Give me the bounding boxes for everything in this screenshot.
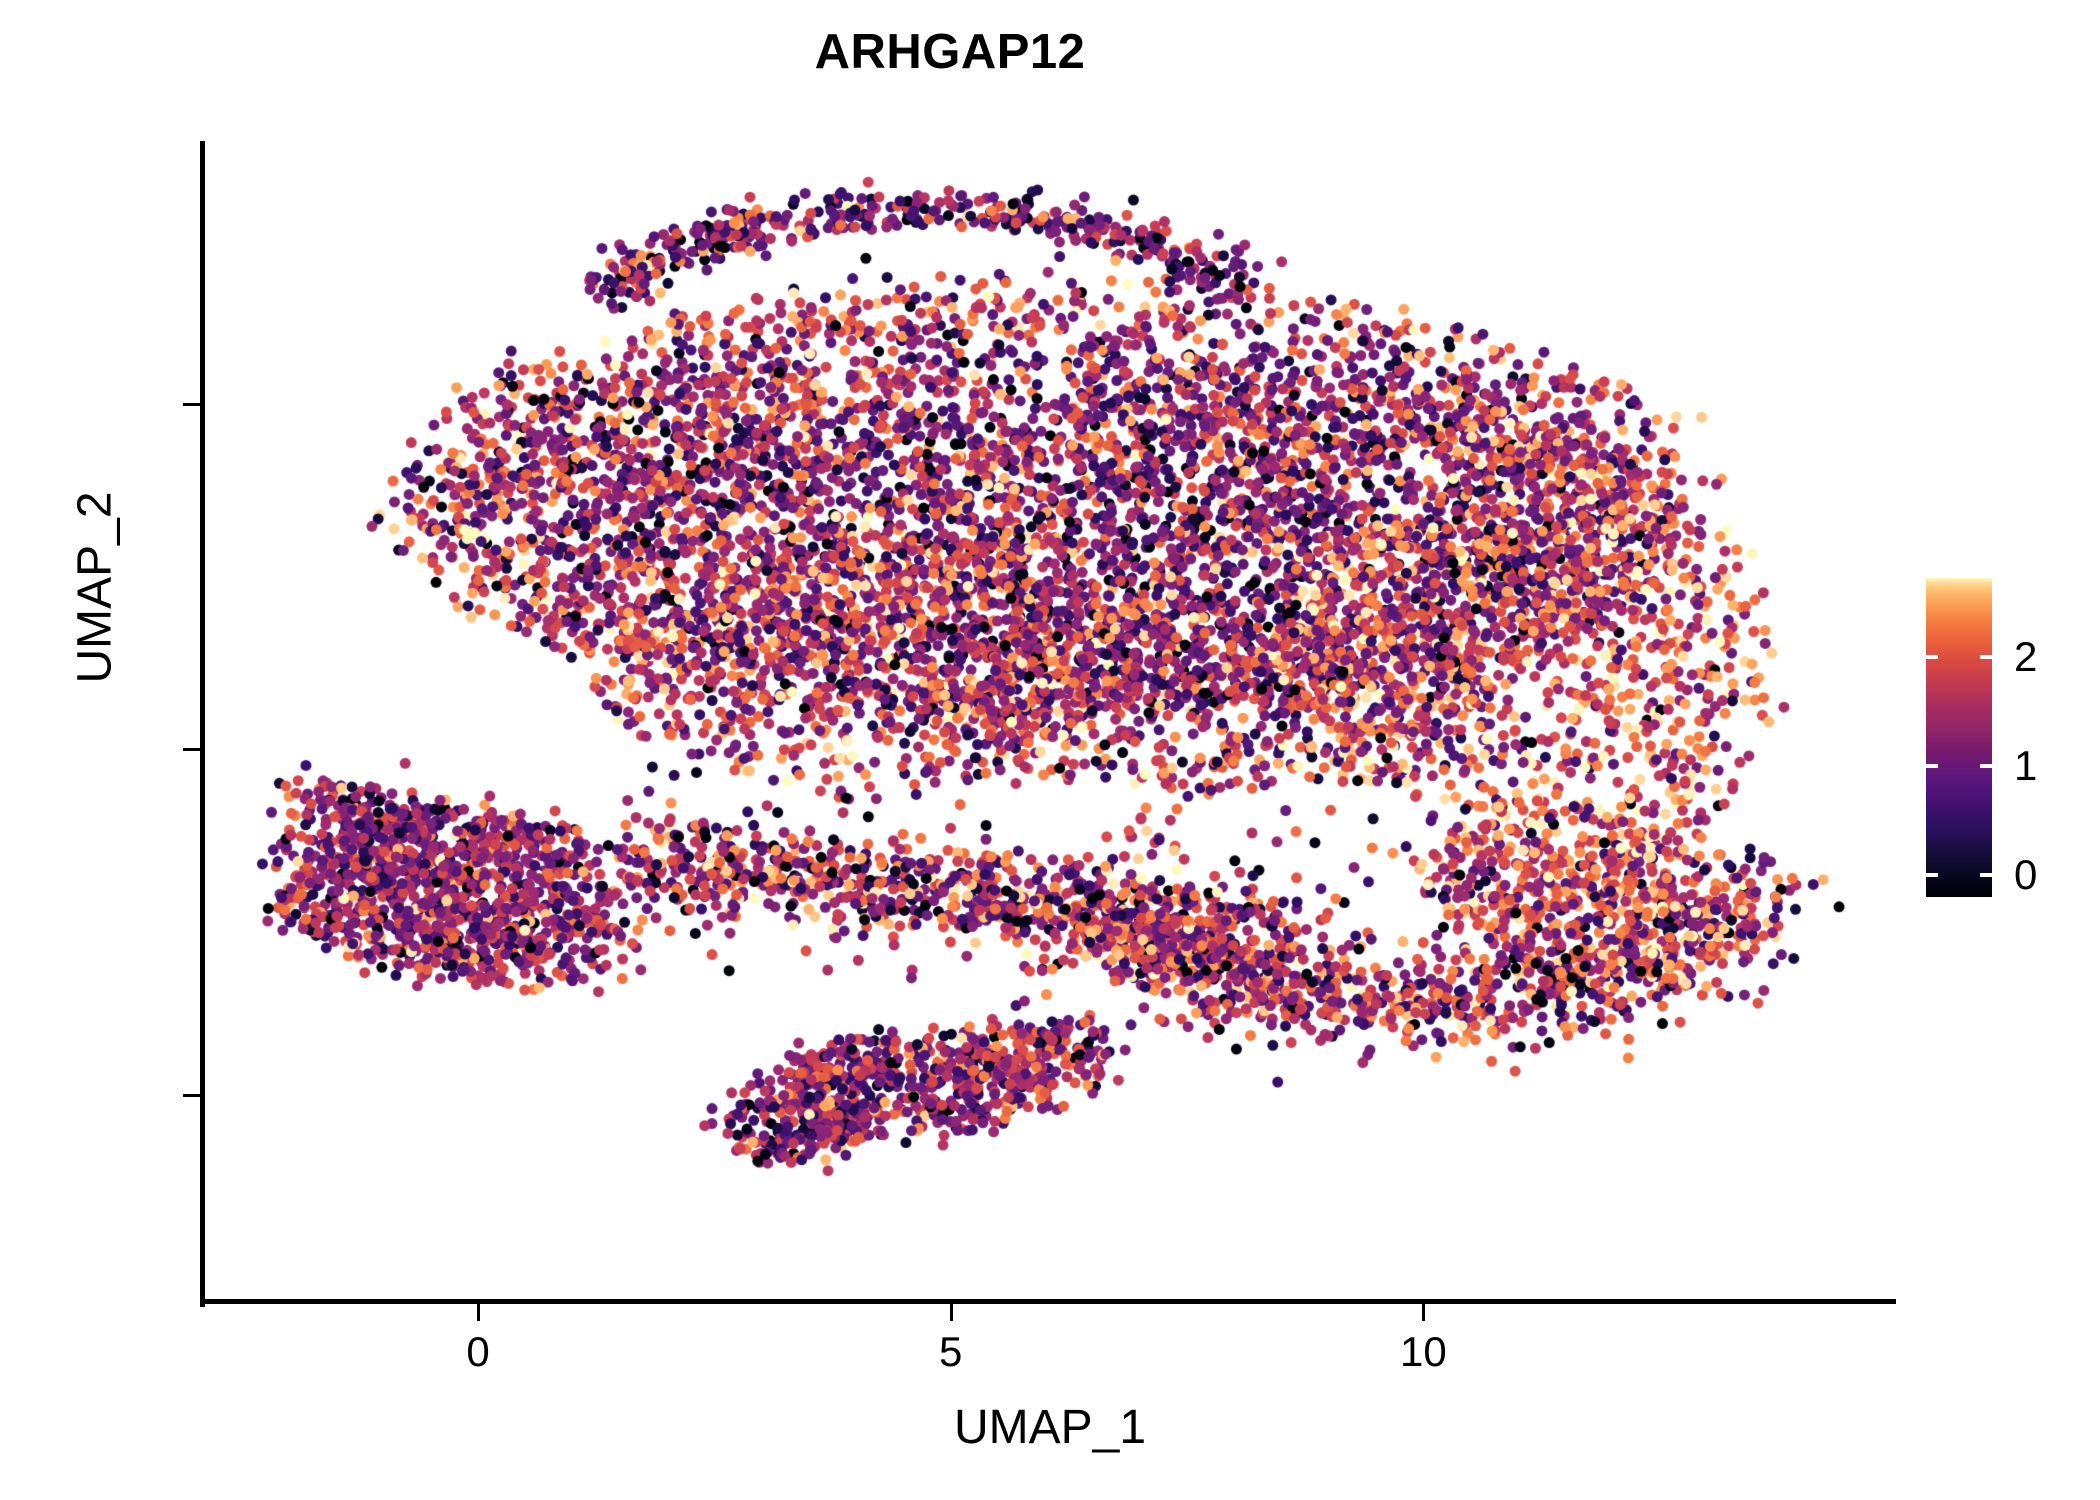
x-axis-line	[200, 1299, 1896, 1304]
colorbar-tick-label: 1	[2014, 742, 2037, 790]
x-tick-mark	[950, 1304, 953, 1321]
colorbar-tick	[1926, 764, 1938, 768]
y-tick-mark	[183, 748, 200, 751]
x-tick-label: 5	[939, 1328, 962, 1376]
x-tick-label: 10	[1400, 1328, 1447, 1376]
colorbar-tick-label: 0	[2014, 851, 2037, 899]
y-axis-line	[200, 141, 205, 1307]
y-tick-mark	[183, 1094, 200, 1097]
colorbar-tick	[1980, 873, 1992, 877]
colorbar-tick	[1926, 655, 1938, 659]
colorbar-gradient	[1926, 578, 1992, 897]
colorbar-tick	[1980, 655, 1992, 659]
x-axis-label: UMAP_1	[204, 1400, 1896, 1455]
colorbar-tick-label: 2	[2014, 633, 2037, 681]
y-tick-mark	[183, 403, 200, 406]
x-tick-mark	[1422, 1304, 1425, 1321]
x-tick-label: 0	[466, 1328, 489, 1376]
x-tick-mark	[477, 1304, 480, 1321]
umap-feature-plot: ARHGAP12 0510 0510 UMAP_1 UMAP_2 012	[0, 0, 2100, 1500]
page-title: ARHGAP12	[0, 24, 1900, 80]
color-legend	[1926, 578, 1992, 897]
y-axis-label: UMAP_2	[68, 288, 123, 888]
colorbar-tick	[1926, 873, 1938, 877]
colorbar-tick	[1980, 764, 1992, 768]
plot-panel	[204, 141, 1896, 1302]
scatter-canvas	[204, 141, 1896, 1302]
